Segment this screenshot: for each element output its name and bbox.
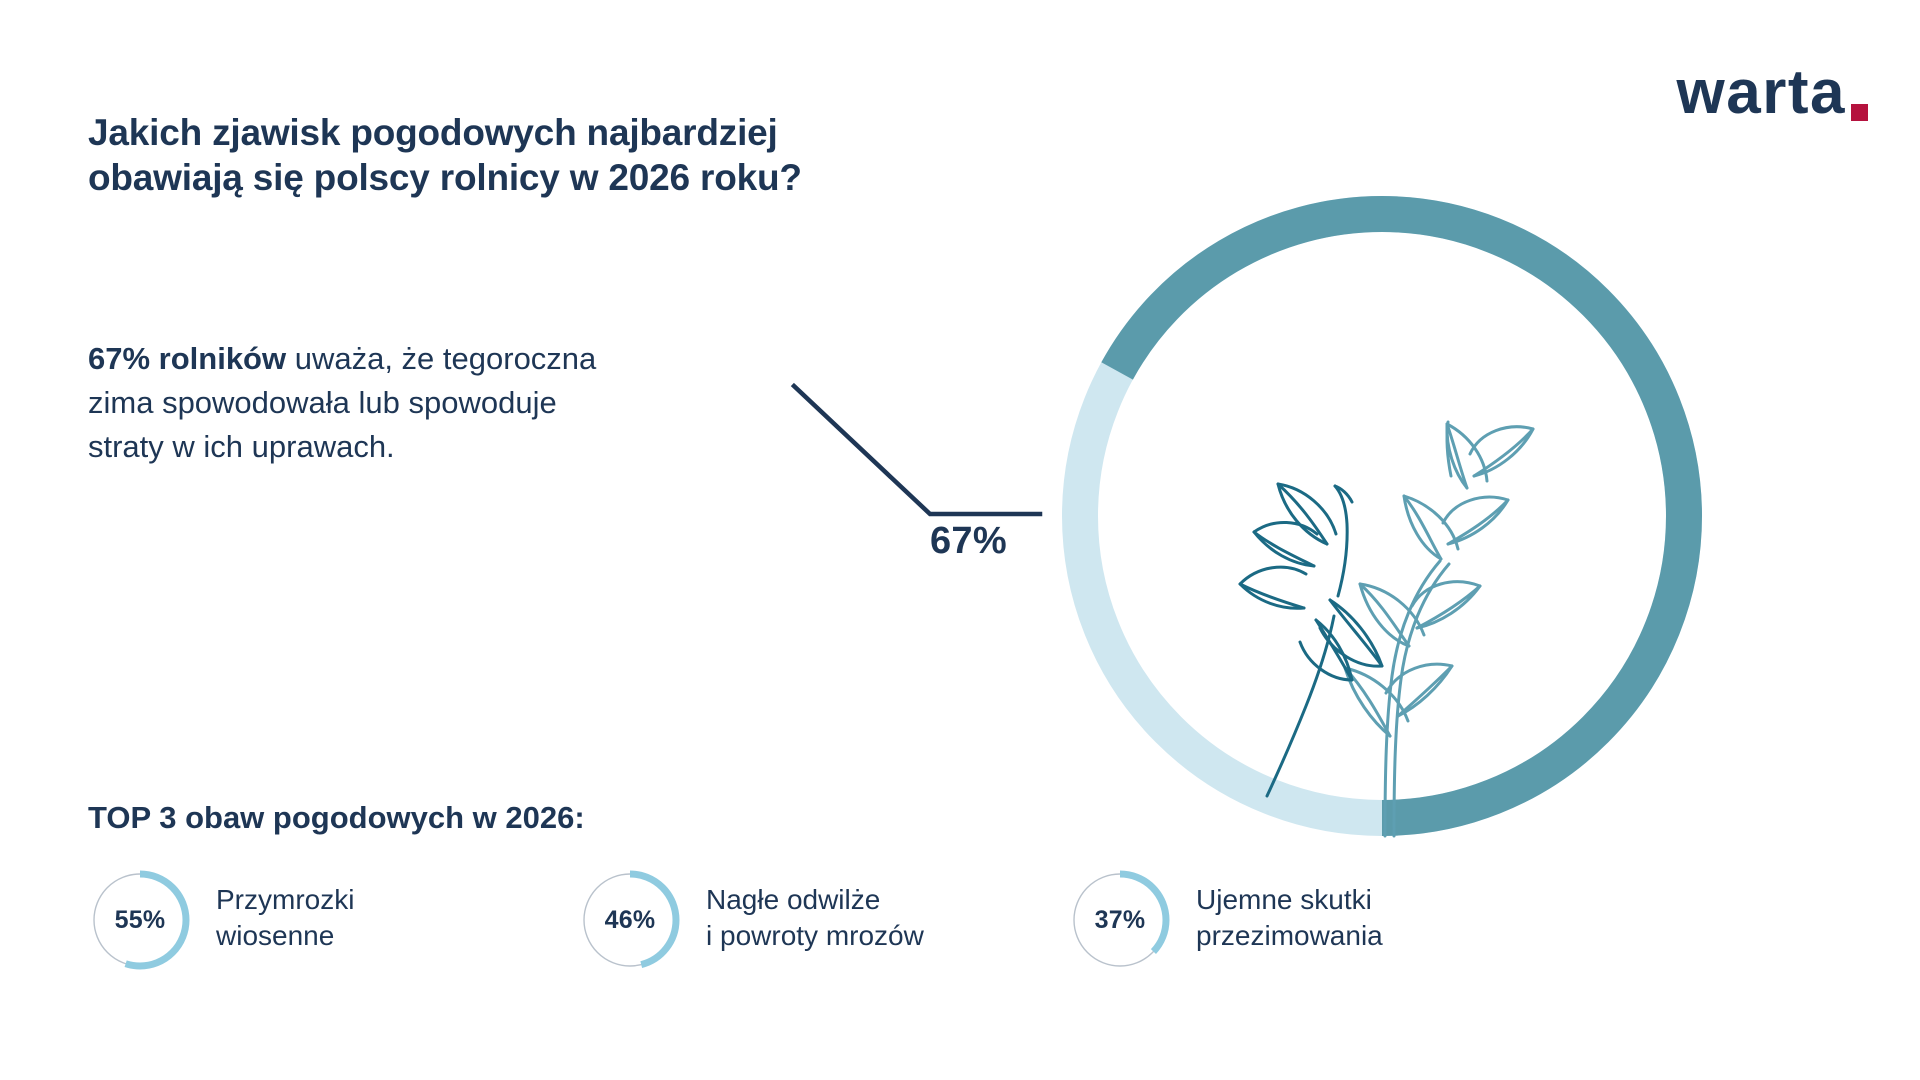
callout-value-67: 67% (930, 520, 1007, 563)
wheat-illustration-icon (1240, 422, 1533, 836)
top3-heading: TOP 3 obaw pogodowych w 2026: (88, 800, 585, 836)
top3-item-label-2: Nagłe odwilże i powroty mrozów (706, 882, 924, 954)
lead-paragraph-line-1: 67% rolników uważa, że tegoroczna (88, 337, 788, 381)
main-donut-chart (1042, 176, 1722, 856)
top3-item-3: 37% Ujemne skutki przezimowania (1068, 868, 1558, 972)
warta-logo: warta (1677, 62, 1868, 124)
top3-item-label-2-line-1: Nagłe odwilże (706, 882, 924, 918)
warta-logo-dot-icon (1851, 104, 1868, 121)
top3-item-2: 46% Nagłe odwilże i powroty mrozów (578, 868, 1068, 972)
page-title-line-2: obawiają się polscy rolnicy w 2026 roku? (88, 155, 988, 200)
page-title-line-1: Jakich zjawisk pogodowych najbardziej (88, 110, 988, 155)
warta-logo-wordmark: warta (1677, 62, 1846, 124)
top3-item-label-1-line-2: wiosenne (216, 918, 354, 954)
callout-leader-line (790, 380, 1050, 530)
mini-donut-chart-2: 46% (578, 868, 682, 972)
lead-paragraph-line-1-rest: uważa, że tegoroczna (286, 341, 596, 376)
top3-item-1: 55% Przymrozki wiosenne (88, 868, 578, 972)
top3-item-label-3-line-1: Ujemne skutki (1196, 882, 1383, 918)
leader-line-path (794, 386, 1040, 514)
lead-paragraph: 67% rolników uważa, że tegoroczna zima s… (88, 337, 788, 469)
lead-paragraph-line-2: zima spowodowała lub spowoduje (88, 381, 788, 425)
top3-list: 55% Przymrozki wiosenne 46% Nagłe odwilż… (88, 868, 1648, 998)
lead-paragraph-emphasis: 67% rolników (88, 341, 286, 376)
top3-item-label-3: Ujemne skutki przezimowania (1196, 882, 1383, 954)
mini-donut-chart-3: 37% (1068, 868, 1172, 972)
top3-item-label-1-line-1: Przymrozki (216, 882, 354, 918)
infographic-canvas: Jakich zjawisk pogodowych najbardziej ob… (0, 0, 1920, 1080)
top3-item-label-1: Przymrozki wiosenne (216, 882, 354, 954)
top3-item-label-2-line-2: i powroty mrozów (706, 918, 924, 954)
page-title: Jakich zjawisk pogodowych najbardziej ob… (88, 110, 988, 200)
mini-donut-value-3: 37% (1068, 868, 1172, 972)
mini-donut-value-2: 46% (578, 868, 682, 972)
mini-donut-chart-1: 55% (88, 868, 192, 972)
top3-item-label-3-line-2: przezimowania (1196, 918, 1383, 954)
lead-paragraph-line-3: straty w ich uprawach. (88, 425, 788, 469)
mini-donut-value-1: 55% (88, 868, 192, 972)
